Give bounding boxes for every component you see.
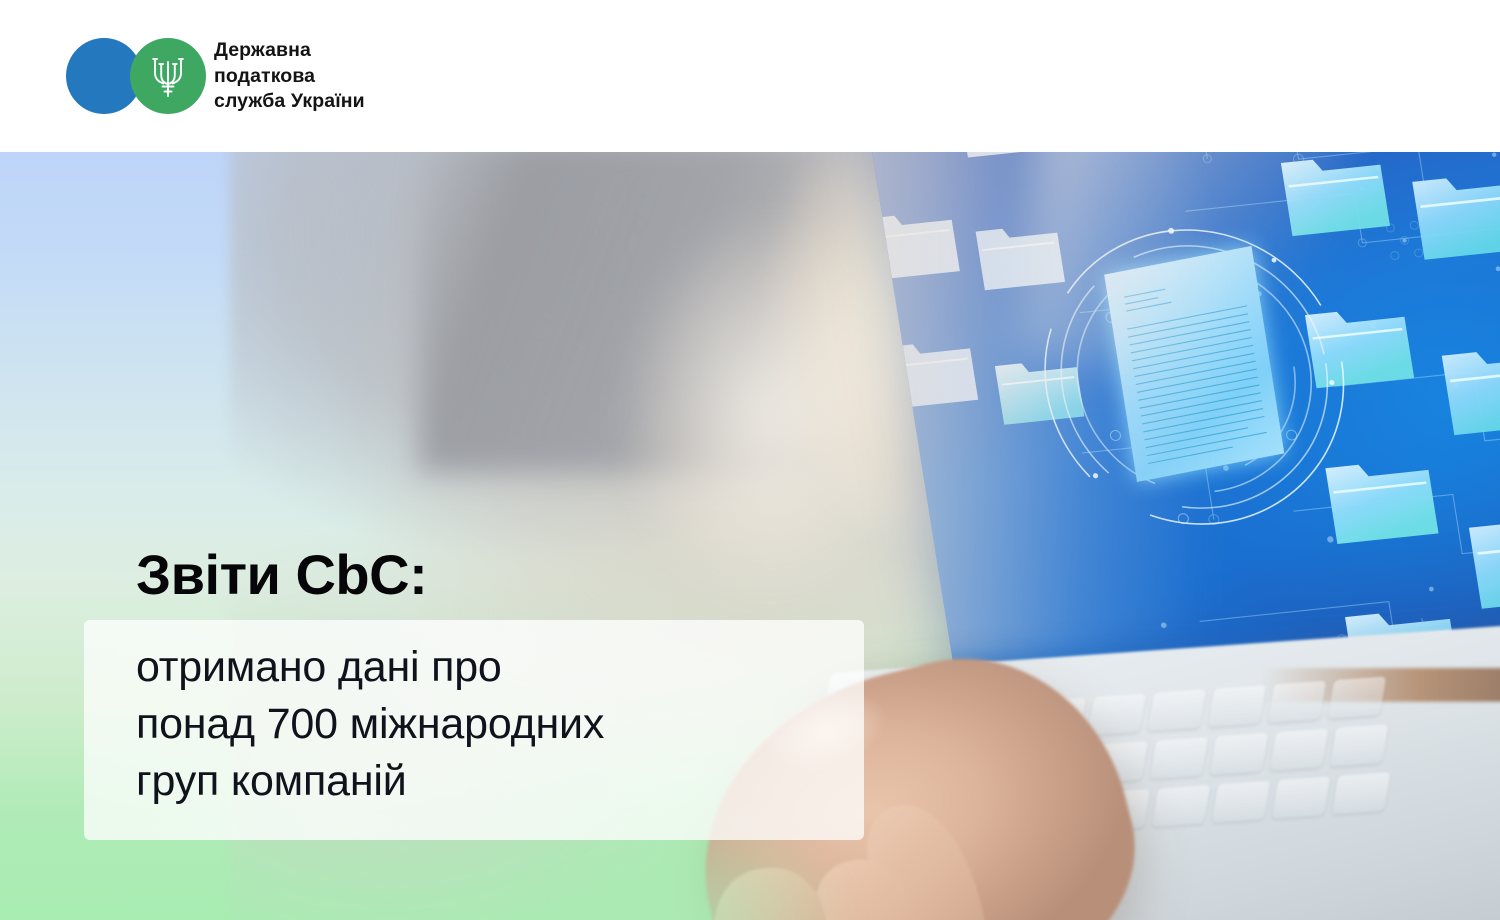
subtitle-line-1: отримано дані про bbox=[136, 639, 604, 696]
header-band: Державна податкова служба України bbox=[0, 0, 1500, 152]
trident-icon bbox=[149, 53, 187, 99]
subtitle-line-3: груп компаній bbox=[136, 753, 604, 810]
green-circle-icon bbox=[130, 38, 206, 114]
page-title: Звіти CbC: bbox=[136, 544, 427, 606]
poster-page: Державна податкова служба України bbox=[0, 0, 1500, 920]
hero-image: Звіти CbC: отримано дані про понад 700 м… bbox=[0, 152, 1500, 920]
organization-logo[interactable]: Державна податкова служба України bbox=[66, 38, 365, 115]
logo-text: Державна податкова служба України bbox=[214, 38, 365, 115]
hologram-folder-icon bbox=[1404, 162, 1500, 271]
subtitle-line-2: понад 700 міжнародних bbox=[136, 696, 604, 753]
logo-marks bbox=[66, 38, 206, 114]
logo-text-line-2: податкова bbox=[214, 64, 365, 90]
page-subtitle: отримано дані про понад 700 міжнародних … bbox=[136, 639, 604, 810]
logo-text-line-3: служба України bbox=[214, 89, 365, 115]
logo-text-line-1: Державна bbox=[214, 38, 365, 64]
